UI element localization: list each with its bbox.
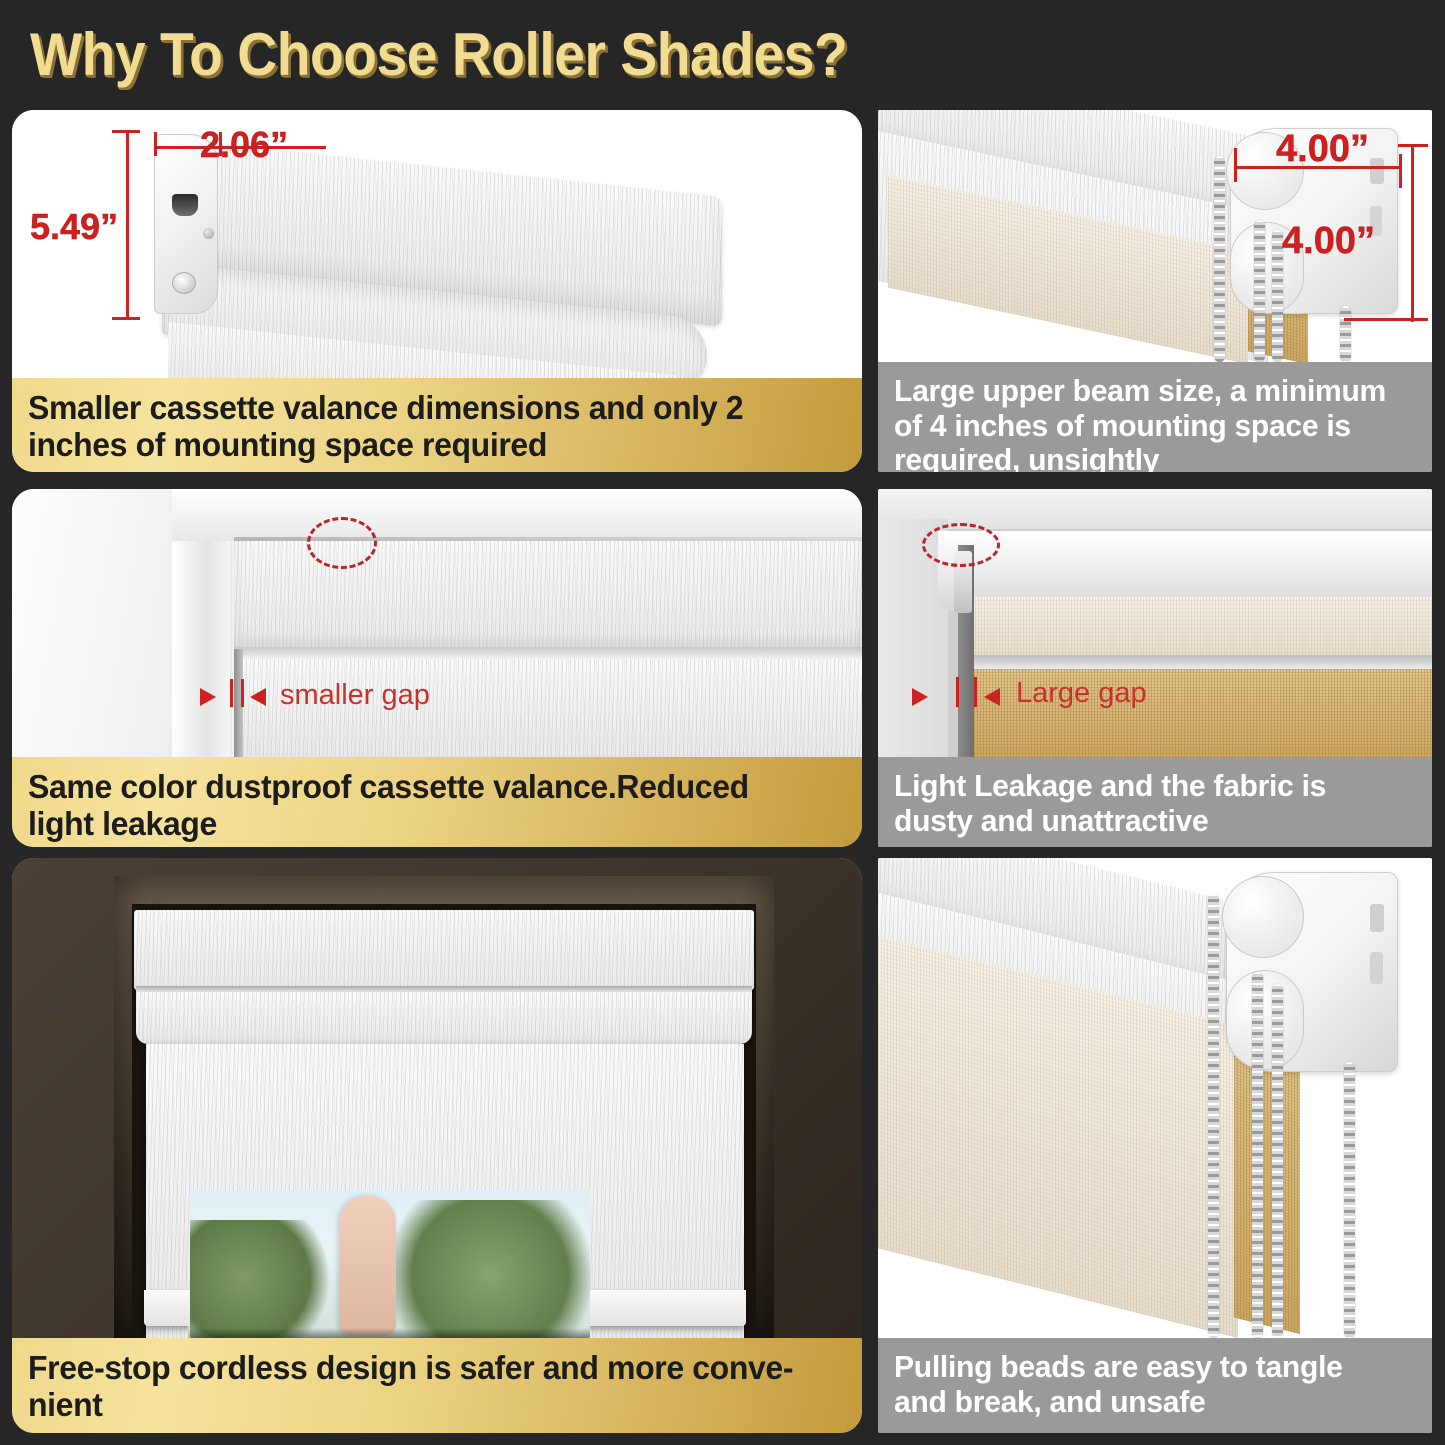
- panel-1-caption: Smaller cassette valance dimensions and …: [12, 378, 862, 472]
- window-wall: [12, 489, 192, 757]
- bracket-slot-b: [1370, 952, 1383, 984]
- bracket-slot-upper: [172, 194, 198, 216]
- panel-6-caption: Pulling beads are easy to tangle and bre…: [878, 1338, 1432, 1433]
- panel-middle-right: Large gap Light Leakage and the fabric i…: [878, 489, 1432, 847]
- bead-chain-1: [1214, 156, 1225, 362]
- gap-marker-right: [241, 679, 244, 707]
- panel-bottom-left: Free-stop cordless design is safer and m…: [12, 858, 862, 1433]
- bead-chain-4: [1340, 306, 1351, 362]
- panel-5-caption-text: Free-stop cordless design is safer and m…: [28, 1350, 821, 1424]
- highlight-circle-icon: [307, 517, 377, 569]
- panel-2-caption: Large upper beam size, a minimum of 4 in…: [878, 362, 1432, 472]
- bead-chain-1: [1208, 894, 1219, 1338]
- panel-top-right: 4.00” 4.00” Large upper beam size, a min…: [878, 110, 1432, 472]
- hand-icon: [340, 1196, 396, 1336]
- dim-height-line: [126, 130, 129, 320]
- panel-6-image: [878, 858, 1432, 1338]
- gap-arrow-right-icon: [984, 688, 1000, 706]
- valance-bottom-lip: [234, 647, 862, 659]
- dim-beam-width-tick-right: [1399, 154, 1402, 188]
- infographic-root: Why To Choose Roller Shades? 2.06” 5.49”: [0, 0, 1445, 1445]
- bracket-slot-a: [1370, 158, 1384, 184]
- bracket-screw-lower: [172, 272, 196, 294]
- panel-3-caption-text: Same color dustproof cassette valance.Re…: [28, 769, 821, 843]
- gap-callout-label: Large gap: [1016, 677, 1147, 710]
- panel-top-left: 2.06” 5.49” Smaller cassette valance dim…: [12, 110, 862, 472]
- panel-2-caption-text: Large upper beam size, a minimum of 4 in…: [894, 374, 1400, 472]
- gap-arrow-left-icon: [200, 688, 216, 706]
- panel-4-caption: Light Leakage and the fabric is dusty an…: [878, 757, 1432, 847]
- gap-arrow-left-icon: [912, 688, 928, 706]
- dim-height-tick-top: [112, 130, 140, 133]
- dimension-label-width: 2.06”: [200, 124, 288, 166]
- valance-headrail: [134, 910, 754, 990]
- panel-3-image: smaller gap: [12, 489, 862, 757]
- highlight-circle-icon: [922, 523, 1000, 567]
- window-frame-top: [172, 489, 862, 541]
- panel-1-caption-text: Smaller cassette valance dimensions and …: [28, 390, 821, 464]
- bracket-slot-a: [1370, 904, 1384, 932]
- bracket-wheel-lower: [1226, 970, 1304, 1070]
- bracket-wheel-upper: [1222, 876, 1304, 958]
- headrail-shadow: [958, 655, 1432, 669]
- tree-right-icon: [370, 1200, 590, 1338]
- panel-bottom-right: Pulling beads are easy to tangle and bre…: [878, 858, 1432, 1433]
- gap-arrow-right-icon: [250, 688, 266, 706]
- panel-1-image: 2.06” 5.49”: [12, 110, 862, 378]
- tree-left-icon: [190, 1220, 340, 1338]
- dim-height-tick-bottom: [112, 317, 140, 320]
- bead-chain-2: [1254, 220, 1265, 362]
- gap-marker-left: [956, 677, 959, 707]
- panel-5-window-scene: [190, 1190, 590, 1338]
- cream-strip: [966, 597, 1432, 657]
- panel-4-caption-text: Light Leakage and the fabric is dusty an…: [894, 769, 1400, 838]
- dim-width-tick-left: [154, 132, 157, 156]
- panel-4-image: Large gap: [878, 489, 1432, 757]
- panel-2-image: 4.00” 4.00”: [878, 110, 1432, 362]
- valance-lower-lip: [136, 992, 752, 1044]
- panel-3-caption: Same color dustproof cassette valance.Re…: [12, 757, 862, 847]
- bracket-screw-mid: [203, 228, 214, 239]
- dim-beam-height-line: [1411, 144, 1414, 322]
- dim-beam-height-tick-top: [1398, 144, 1428, 147]
- bead-chain-2: [1252, 972, 1263, 1338]
- dimension-label-height: 5.49”: [30, 206, 118, 248]
- dimension-label-beam-width: 4.00”: [1276, 128, 1369, 171]
- dim-beam-height-tick-bottom: [1344, 318, 1428, 321]
- dimension-label-beam-height: 4.00”: [1282, 220, 1375, 263]
- page-title: Why To Choose Roller Shades?: [30, 20, 847, 89]
- gap-callout-label: smaller gap: [280, 679, 430, 712]
- panel-middle-left: smaller gap Same color dustproof cassett…: [12, 489, 862, 847]
- gap-marker-left: [230, 679, 233, 707]
- window-sill-shadow: [190, 1328, 590, 1338]
- panel-5-caption: Free-stop cordless design is safer and m…: [12, 1338, 862, 1433]
- dim-beam-width-tick-left: [1234, 148, 1237, 182]
- panel-6-caption-text: Pulling beads are easy to tangle and bre…: [894, 1350, 1400, 1419]
- gap-marker-right: [974, 677, 977, 707]
- bead-chain-4: [1344, 1062, 1355, 1338]
- bead-chain-3: [1272, 984, 1283, 1338]
